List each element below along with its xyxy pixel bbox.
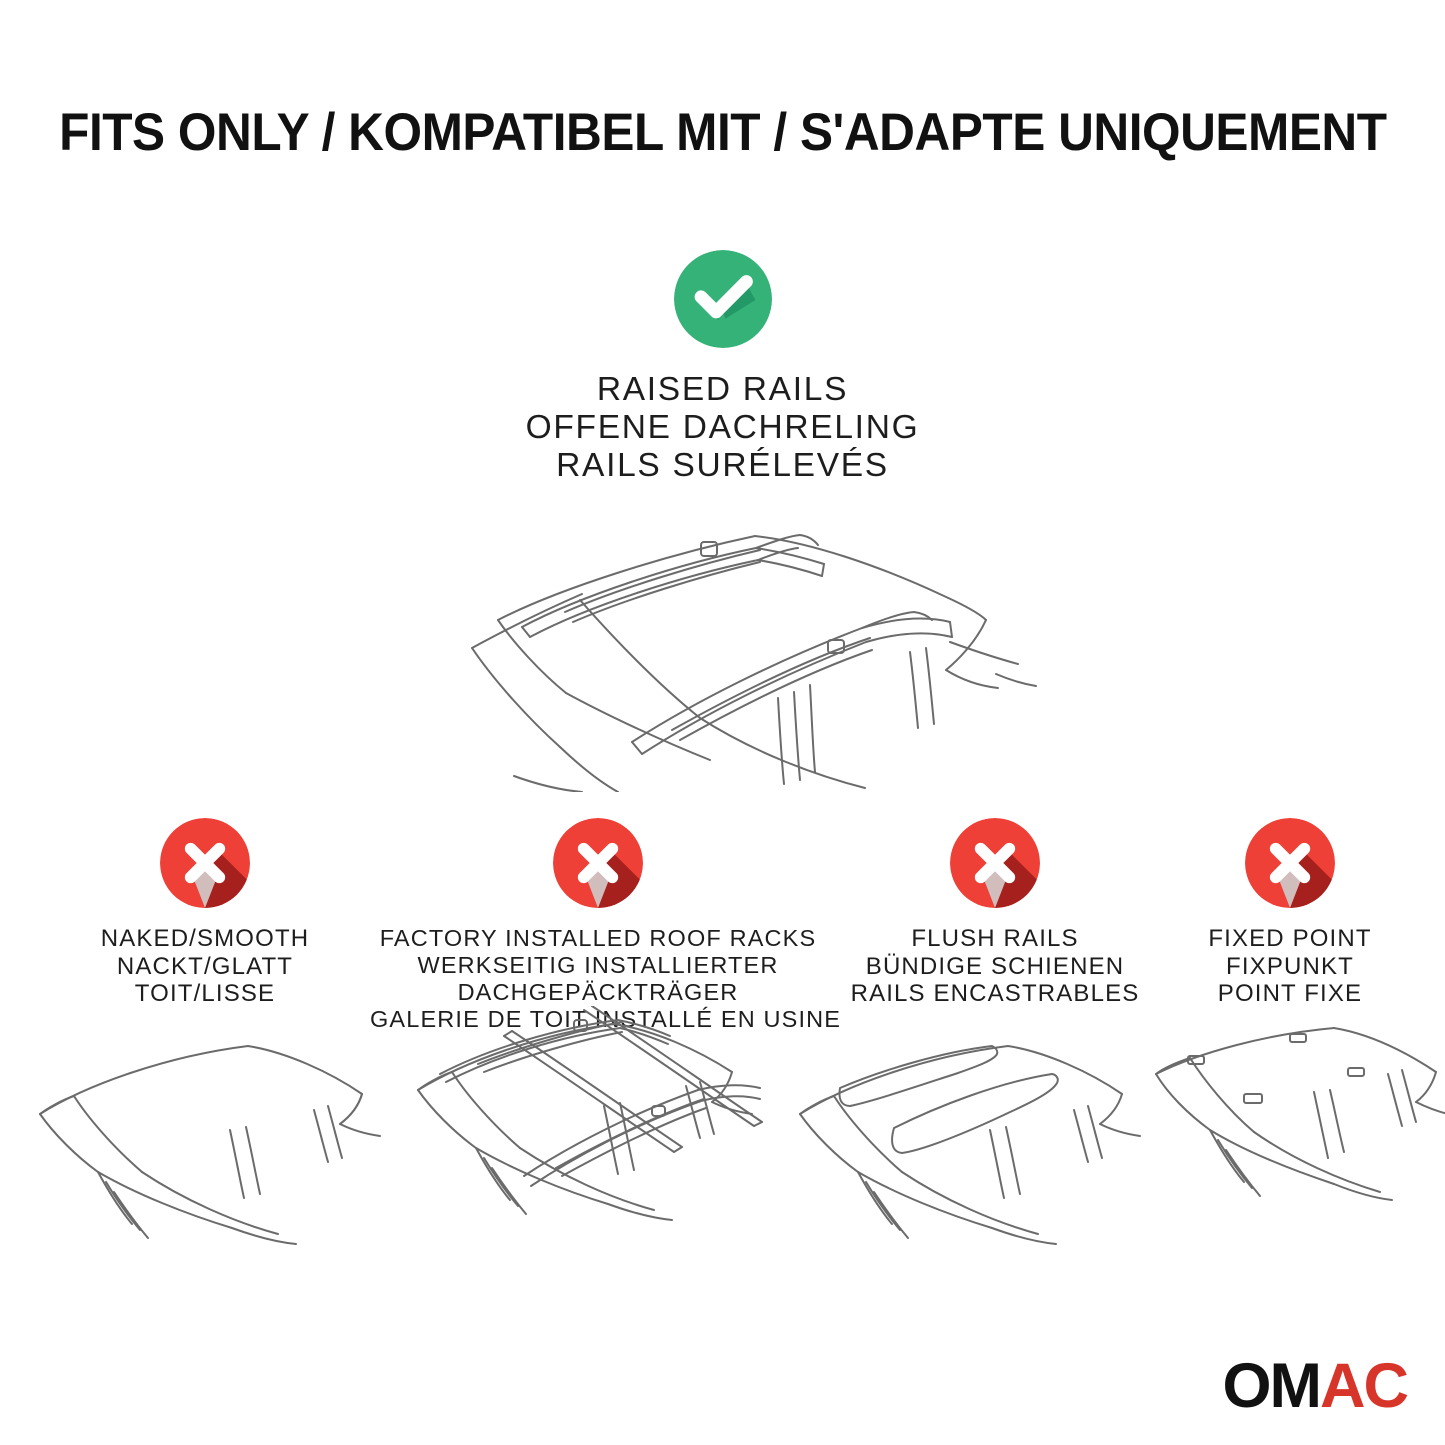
compatible-labels: RAISED RAILS OFFENE DACHRELING RAILS SUR…	[0, 371, 1445, 485]
omac-logo: OMAC	[1223, 1355, 1407, 1418]
incompatible-label-de: NACKT/GLATT	[35, 953, 375, 981]
compatible-label-de: OFFENE DACHRELING	[0, 409, 1445, 447]
cross-circle-icon	[160, 818, 250, 908]
incompatible-item-flush-rails: FLUSH RAILS BÜNDIGE SCHIENEN RAILS ENCAS…	[830, 818, 1160, 1008]
check-circle-icon	[674, 250, 772, 348]
page-title-text: FITS ONLY / KOMPATIBEL MIT / S'ADAPTE UN…	[59, 105, 1386, 161]
incompatible-label-en: NAKED/SMOOTH	[35, 925, 375, 953]
incompatible-label-de: FIXPUNKT	[1145, 953, 1435, 981]
cross-circle-icon	[1245, 818, 1335, 908]
incompatible-label-en: FACTORY INSTALLED ROOF RACKS	[370, 925, 826, 952]
page-root: FITS ONLY / KOMPATIBEL MIT / S'ADAPTE UN…	[0, 0, 1445, 1445]
page-title: FITS ONLY / KOMPATIBEL MIT / S'ADAPTE UN…	[0, 102, 1445, 164]
logo-text-red: AC	[1320, 1355, 1407, 1418]
compatible-section: RAISED RAILS OFFENE DACHRELING RAILS SUR…	[0, 250, 1445, 485]
incompatible-label-fr: TOIT/LISSE	[35, 980, 375, 1008]
cross-circle-icon	[950, 818, 1040, 908]
incompatible-label-de-1: WERKSEITIG INSTALLIERTER	[370, 952, 826, 979]
incompatible-label-de: BÜNDIGE SCHIENEN	[830, 953, 1160, 981]
check-badge-wrap	[0, 250, 1445, 348]
incompatible-label-fr: POINT FIXE	[1145, 980, 1435, 1008]
car-roof-factory-racks-illustration	[398, 1006, 766, 1250]
car-roof-naked-smooth-illustration	[18, 1022, 386, 1250]
compatible-label-en: RAISED RAILS	[0, 371, 1445, 409]
incompatible-label-de-2: DACHGEPÄCKTRÄGER	[370, 979, 826, 1006]
incompatible-labels: FLUSH RAILS BÜNDIGE SCHIENEN RAILS ENCAS…	[830, 925, 1160, 1008]
car-roof-flush-rails-illustration	[778, 1022, 1146, 1250]
incompatible-label-en: FLUSH RAILS	[830, 925, 1160, 953]
logo-text-black: OM	[1223, 1355, 1320, 1418]
incompatible-item-factory-racks: FACTORY INSTALLED ROOF RACKS WERKSEITIG …	[370, 818, 826, 1033]
incompatible-item-fixed-point: FIXED POINT FIXPUNKT POINT FIXE	[1145, 818, 1435, 1008]
car-roof-fixed-point-illustration	[1148, 1018, 1445, 1250]
car-roof-raised-rails-illustration	[410, 492, 1050, 792]
incompatible-item-naked-smooth: NAKED/SMOOTH NACKT/GLATT TOIT/LISSE	[35, 818, 375, 1008]
incompatible-labels: NAKED/SMOOTH NACKT/GLATT TOIT/LISSE	[35, 925, 375, 1008]
incompatible-labels: FIXED POINT FIXPUNKT POINT FIXE	[1145, 925, 1435, 1008]
incompatible-label-en: FIXED POINT	[1145, 925, 1435, 953]
compatible-label-fr: RAILS SURÉLEVÉS	[0, 447, 1445, 485]
incompatible-label-fr: RAILS ENCASTRABLES	[830, 980, 1160, 1008]
cross-circle-icon	[553, 818, 643, 908]
